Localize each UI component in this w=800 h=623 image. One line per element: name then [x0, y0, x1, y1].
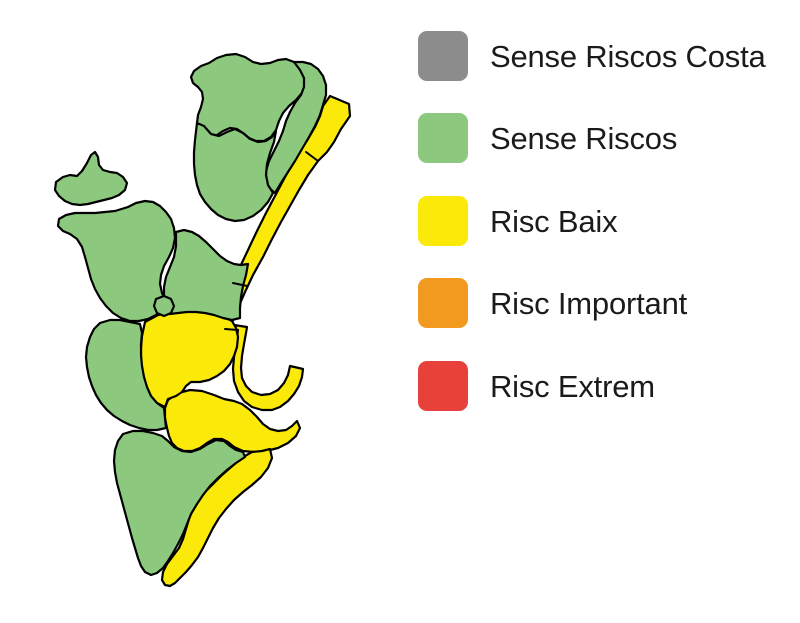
legend-label-no-risk-coast: Sense Riscos Costa [490, 41, 766, 72]
legend-swatch-extreme-risk [418, 361, 468, 411]
legend-item-important-risk[interactable]: Risc Important [418, 277, 687, 329]
zone-inland-central[interactable] [164, 230, 248, 320]
legend-label-no-risk: Sense Riscos [490, 123, 677, 154]
internal-boundary-coast-valencia-split [225, 329, 238, 330]
legend-swatch-important-risk [418, 278, 468, 328]
zone-enclave-ademuz[interactable] [55, 152, 127, 205]
legend-item-low-risk[interactable]: Risc Baix [418, 195, 617, 247]
zone-inland-notch[interactable] [154, 296, 174, 316]
legend-swatch-no-risk [418, 113, 468, 163]
legend-item-no-risk[interactable]: Sense Riscos [418, 112, 677, 164]
legend-label-extreme-risk: Risc Extrem [490, 371, 655, 402]
legend-label-important-risk: Risc Important [490, 288, 687, 319]
legend-swatch-low-risk [418, 196, 468, 246]
valencian-community-map [0, 0, 410, 623]
legend-item-extreme-risk[interactable]: Risc Extrem [418, 360, 655, 412]
legend-swatch-no-risk-coast [418, 31, 468, 81]
risk-map-figure: Sense Riscos Costa Sense Riscos Risc Bai… [0, 0, 800, 623]
legend: Sense Riscos Costa Sense Riscos Risc Bai… [418, 0, 800, 623]
legend-item-no-risk-coast[interactable]: Sense Riscos Costa [418, 30, 766, 82]
map-panel [0, 0, 410, 623]
zone-coast-central[interactable] [230, 325, 303, 410]
legend-label-low-risk: Risc Baix [490, 206, 617, 237]
